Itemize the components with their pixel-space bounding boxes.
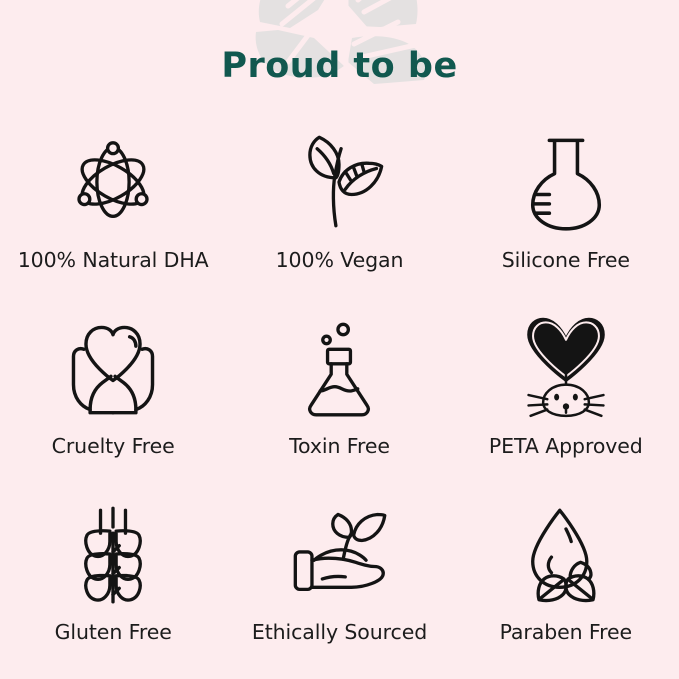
rabbit-heart-ears-icon: [514, 316, 618, 420]
badge-label: Ethically Sourced: [252, 620, 427, 644]
badge-item: Ethically Sourced: [226, 494, 452, 679]
erlenmeyer-flask-bubbles-icon: [287, 316, 391, 420]
badge-label: Paraben Free: [500, 620, 632, 644]
badge-label: Silicone Free: [502, 248, 630, 272]
badge-label: 100% Natural DHA: [18, 248, 209, 272]
badge-label: Cruelty Free: [52, 434, 175, 458]
hand-holding-sprout-icon: [287, 502, 391, 606]
badge-label: Gluten Free: [55, 620, 172, 644]
badge-label: Toxin Free: [289, 434, 390, 458]
badge-item: Toxin Free: [226, 308, 452, 494]
badge-item: Cruelty Free: [0, 308, 226, 494]
badge-item: 100% Natural DHA: [0, 122, 226, 308]
page-title: Proud to be: [0, 46, 679, 86]
round-flask-icon: [514, 130, 618, 234]
proud-to-be-badges-graphic: Proud to be 100% Natural DHA: [0, 0, 679, 679]
badge-item: PETA Approved: [453, 308, 679, 494]
atom-icon: [61, 130, 165, 234]
water-droplet-leaves-icon: [514, 502, 618, 606]
sprout-leaves-icon: [287, 130, 391, 234]
badge-grid: 100% Natural DHA 100: [0, 122, 679, 679]
badge-item: Gluten Free: [0, 494, 226, 679]
badge-label: PETA Approved: [489, 434, 643, 458]
hands-holding-heart-icon: [61, 316, 165, 420]
badge-item: Silicone Free: [453, 122, 679, 308]
badge-label: 100% Vegan: [276, 248, 404, 272]
badge-item: 100% Vegan: [226, 122, 452, 308]
wheat-stalk-icon: [61, 502, 165, 606]
badge-item: Paraben Free: [453, 494, 679, 679]
